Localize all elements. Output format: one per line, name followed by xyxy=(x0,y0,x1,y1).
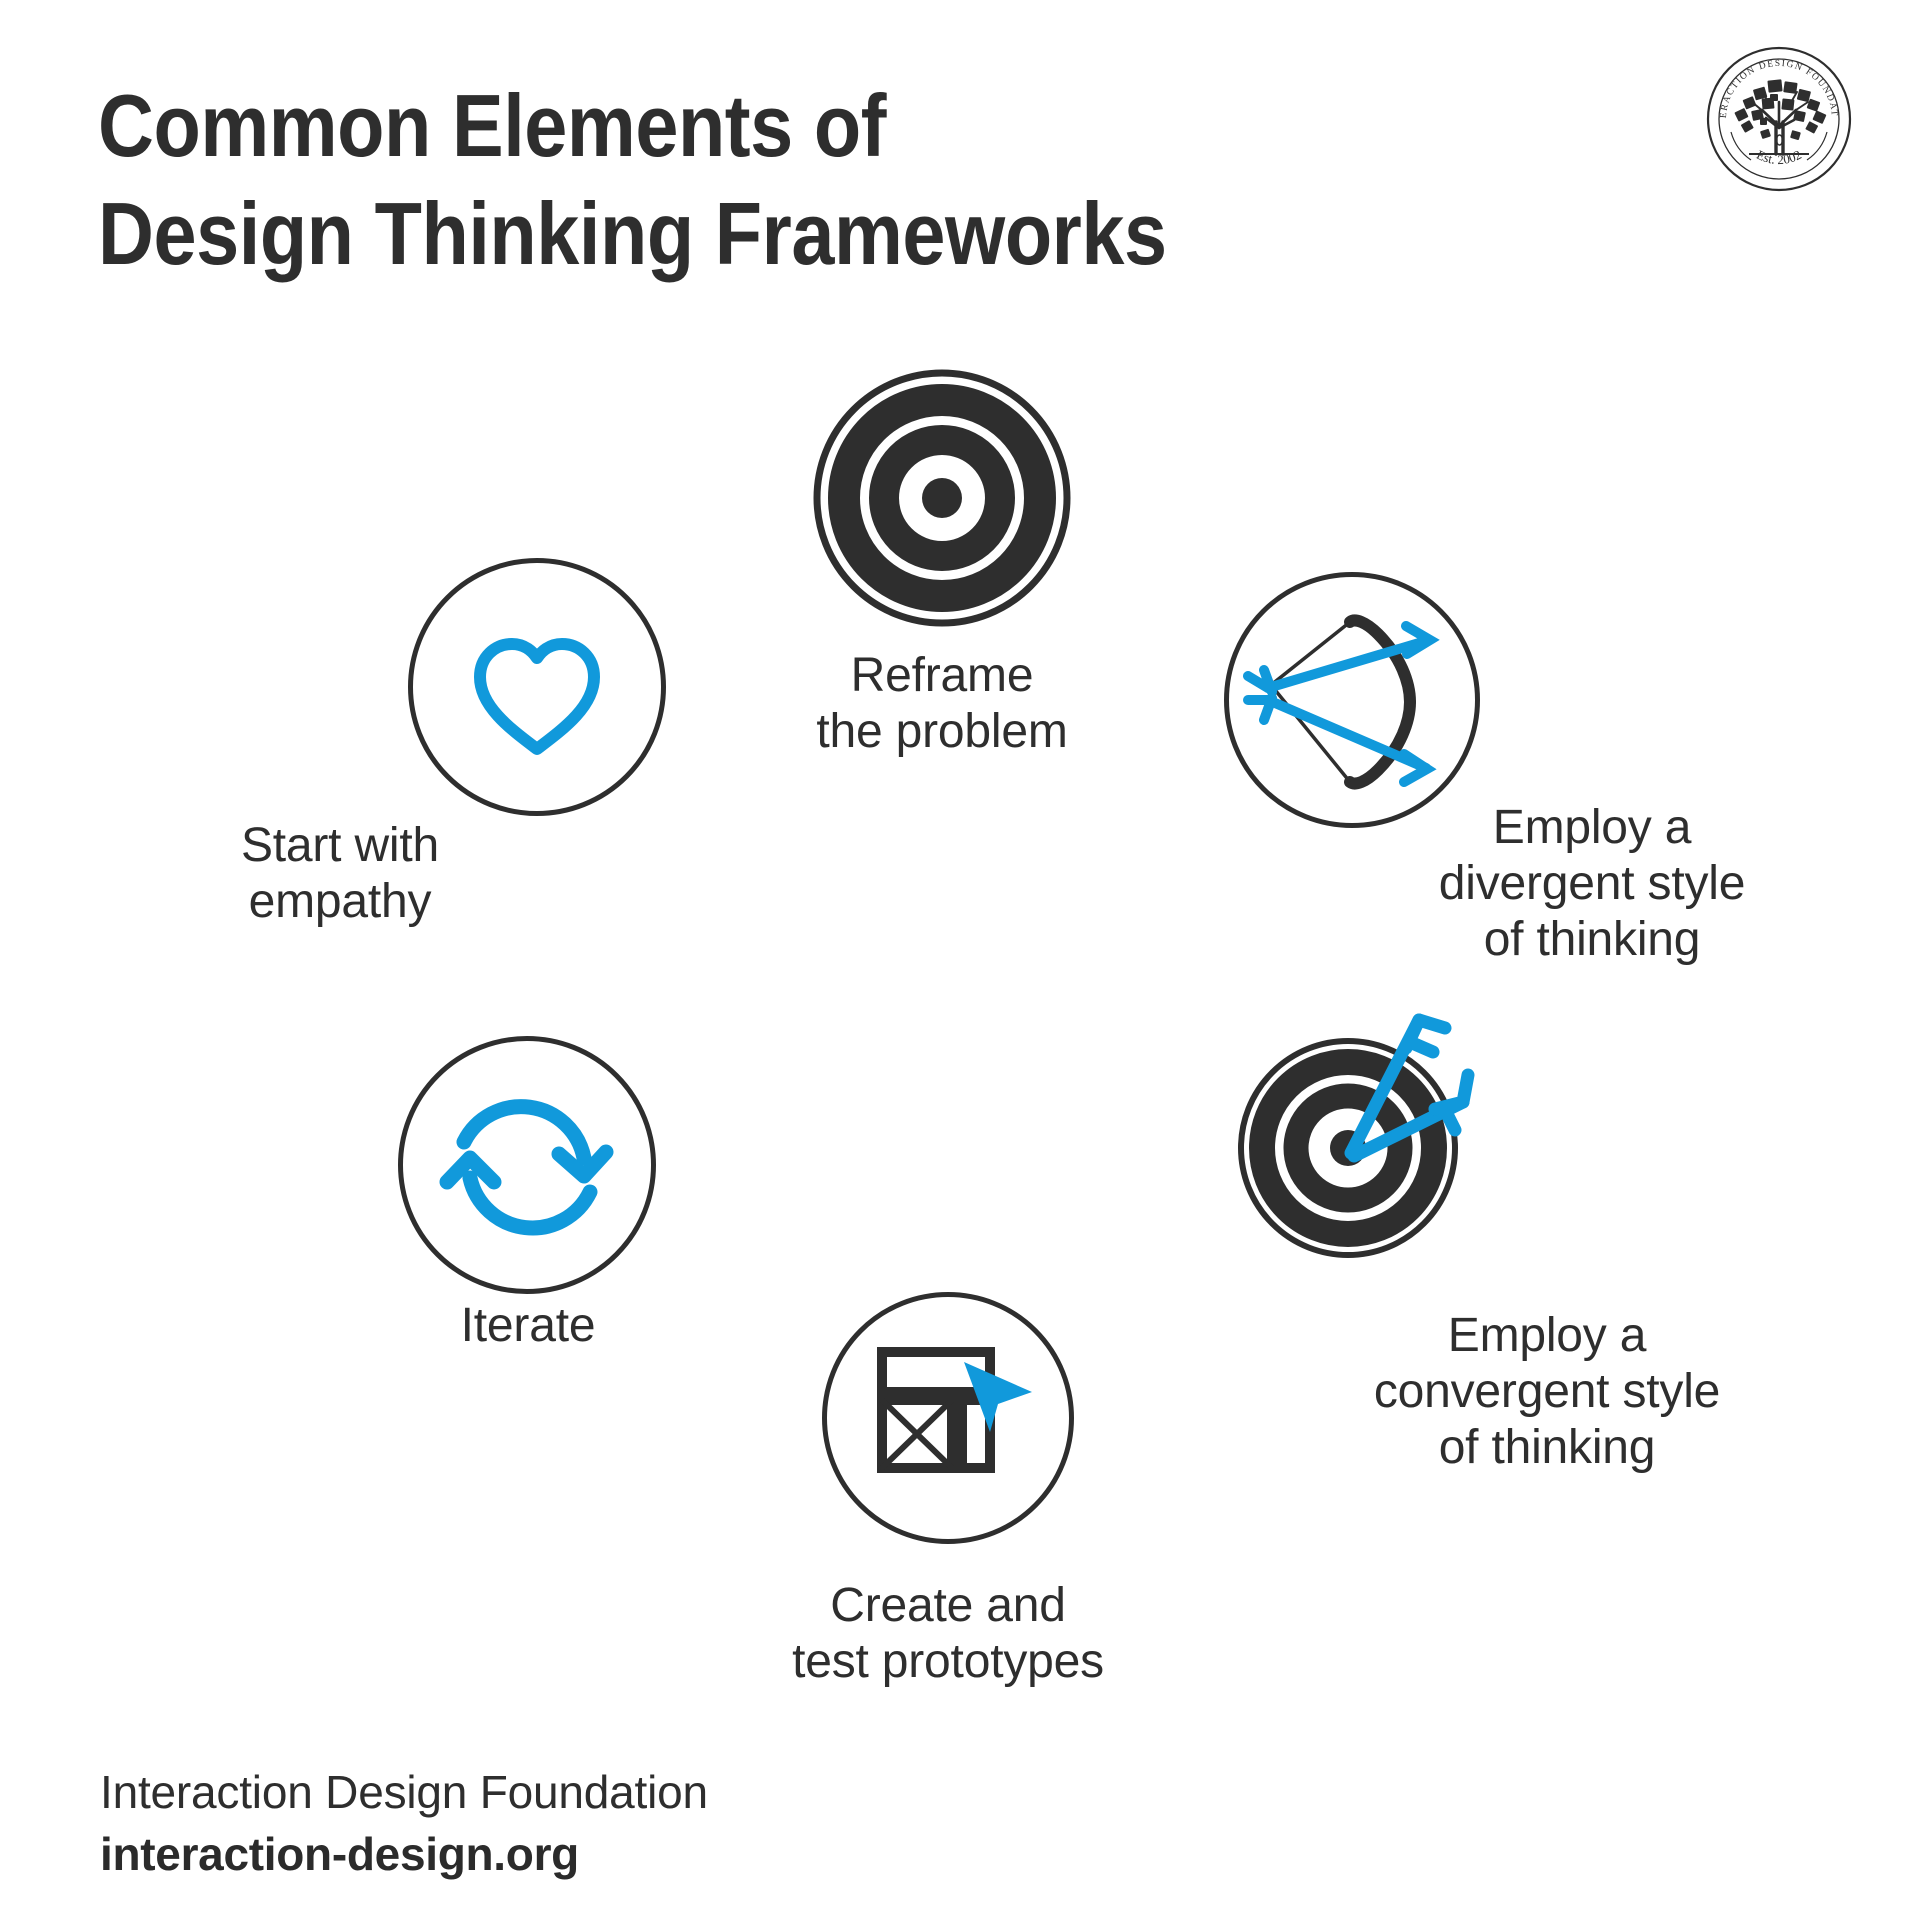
iterate-label: Iterate xyxy=(328,1298,728,1354)
footer-organization: Interaction Design Foundation xyxy=(100,1764,1000,1820)
page-title: Common Elements of Design Thinking Frame… xyxy=(98,72,1242,288)
footer: Interaction Design Foundation interactio… xyxy=(100,1764,1000,1882)
empathy-label: Start with empathy xyxy=(140,818,540,930)
reframe-label: Reframe the problem xyxy=(742,648,1142,760)
idf-seal-icon: INTERACTION DESIGN FOUNDATION Est. 2002 xyxy=(1704,44,1854,194)
prototypes-label: Create and test prototypes xyxy=(748,1578,1148,1690)
bow-and-diverging-arrows-icon xyxy=(1224,572,1480,828)
circular-arrows-refresh-icon xyxy=(398,1036,656,1294)
bullseye-target-icon xyxy=(812,368,1072,628)
wireframe-cursor-icon xyxy=(822,1292,1074,1544)
bullseye-with-arrows-icon xyxy=(1220,990,1520,1290)
heart-icon xyxy=(408,558,666,816)
divergent-label: Employ a divergent style of thinking xyxy=(1352,800,1832,968)
footer-url[interactable]: interaction-design.org xyxy=(100,1826,1000,1882)
convergent-label: Employ a convergent style of thinking xyxy=(1312,1308,1782,1476)
idf-logo: INTERACTION DESIGN FOUNDATION Est. 2002 xyxy=(1704,44,1854,194)
